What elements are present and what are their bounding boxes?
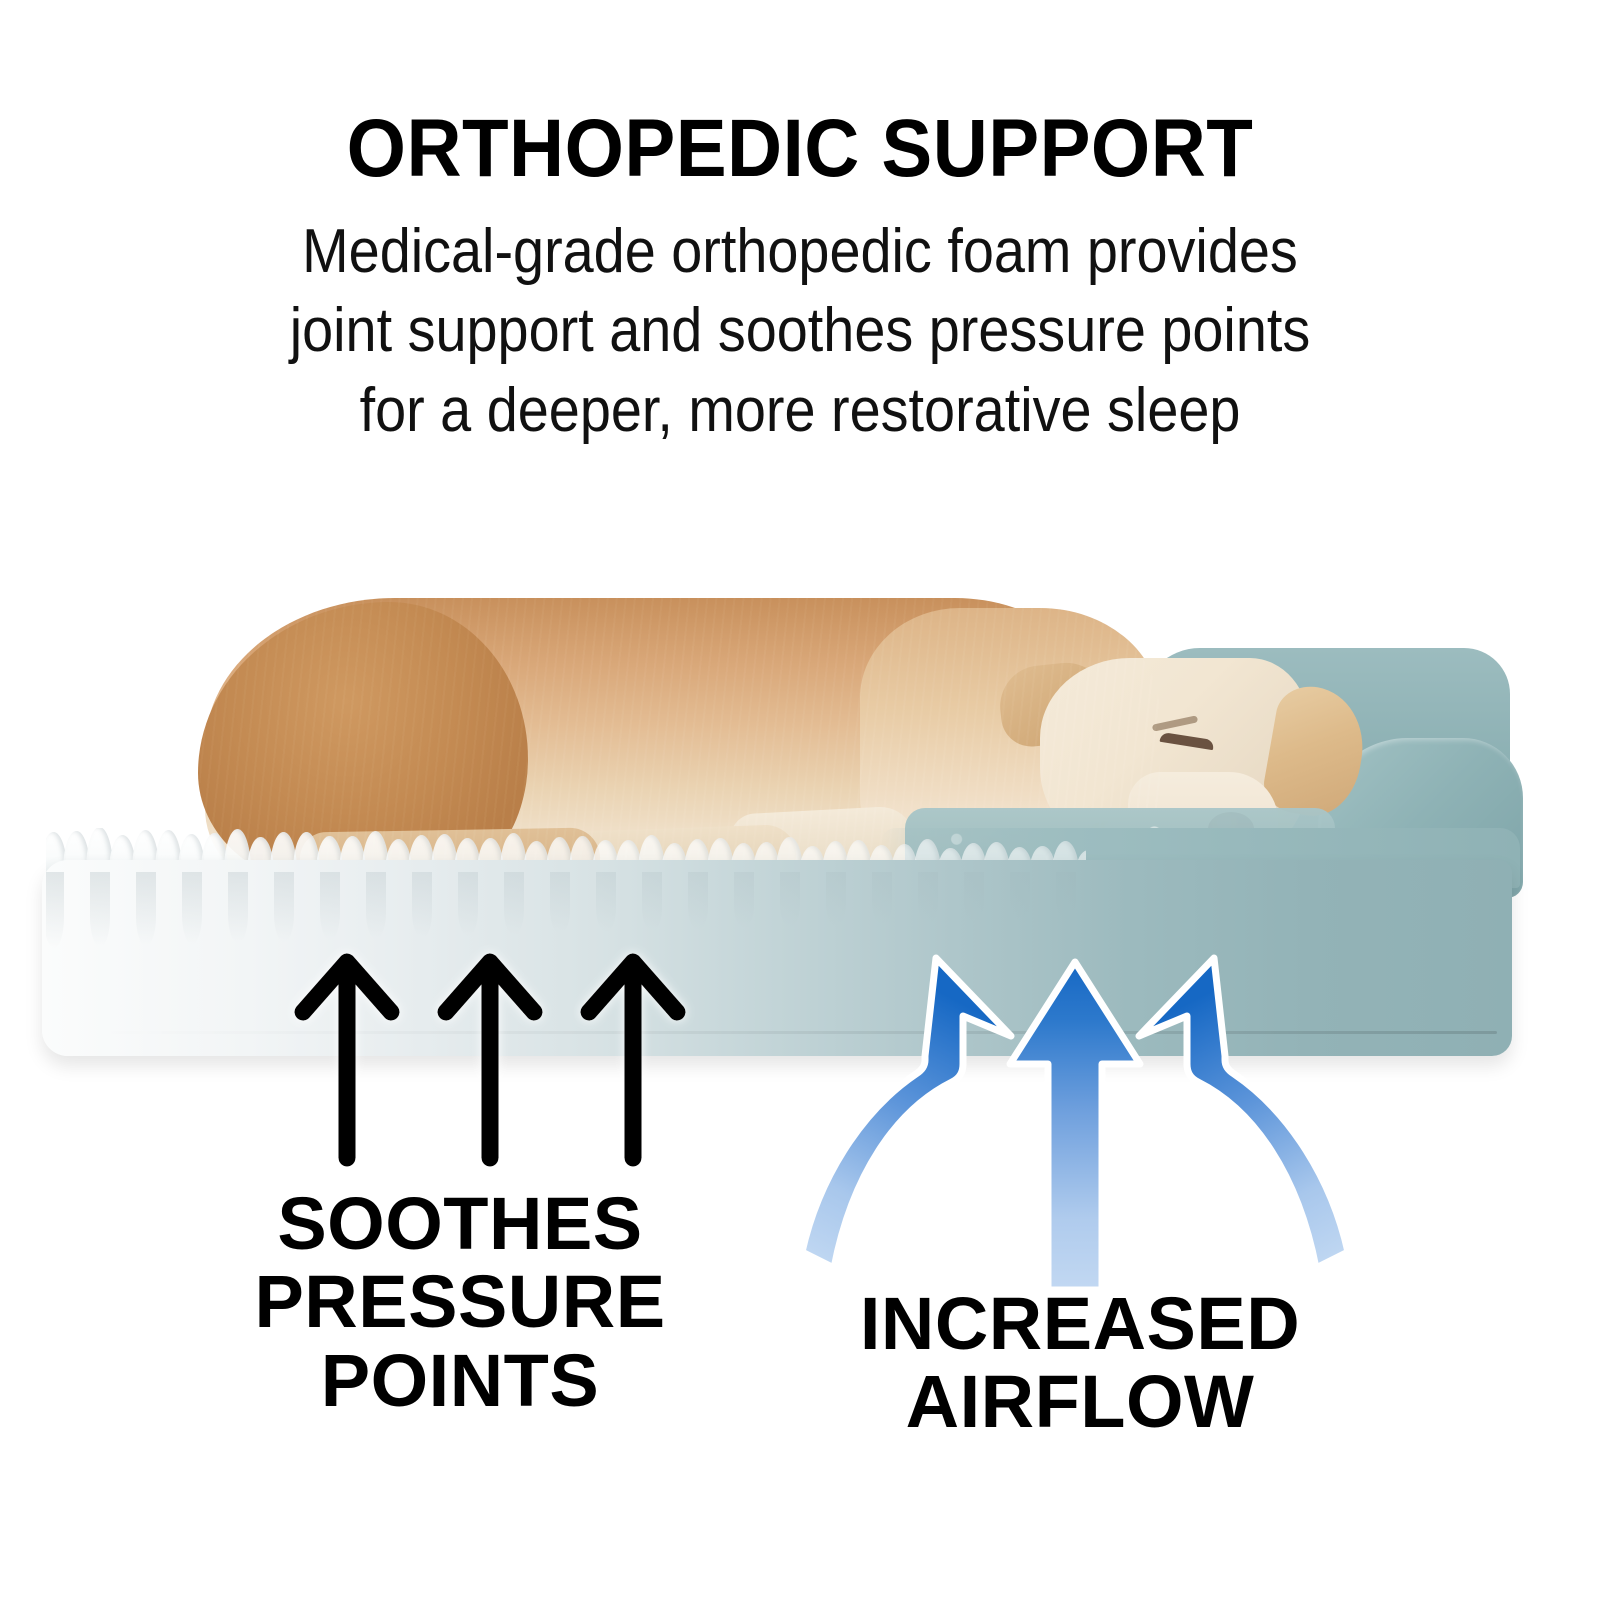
subtitle-line-1: Medical-grade orthopedic foam provides	[143, 212, 1457, 291]
callout-increased-airflow: INCREASED AIRFLOW	[820, 1285, 1340, 1442]
bed-foam-base	[42, 860, 1512, 1056]
pressure-label-line-3: POINTS	[150, 1342, 770, 1420]
pressure-label-line-2: PRESSURE	[150, 1263, 770, 1341]
subtitle-line-2: joint support and soothes pressure point…	[143, 291, 1457, 370]
airflow-label-line-1: INCREASED	[820, 1285, 1340, 1363]
infographic-page: ORTHOPEDIC SUPPORT Medical-grade orthope…	[0, 0, 1600, 1600]
product-scene	[0, 560, 1600, 1080]
subtitle-line-3: for a deeper, more restorative sleep	[143, 371, 1457, 450]
airflow-label-line-2: AIRFLOW	[820, 1363, 1340, 1441]
pressure-label-line-1: SOOTHES	[150, 1185, 770, 1263]
page-subtitle: Medical-grade orthopedic foam provides j…	[80, 212, 1520, 450]
page-title: ORTHOPEDIC SUPPORT	[56, 108, 1544, 190]
header-block: ORTHOPEDIC SUPPORT Medical-grade orthope…	[0, 108, 1600, 450]
callout-pressure-points: SOOTHES PRESSURE POINTS	[150, 1185, 770, 1420]
